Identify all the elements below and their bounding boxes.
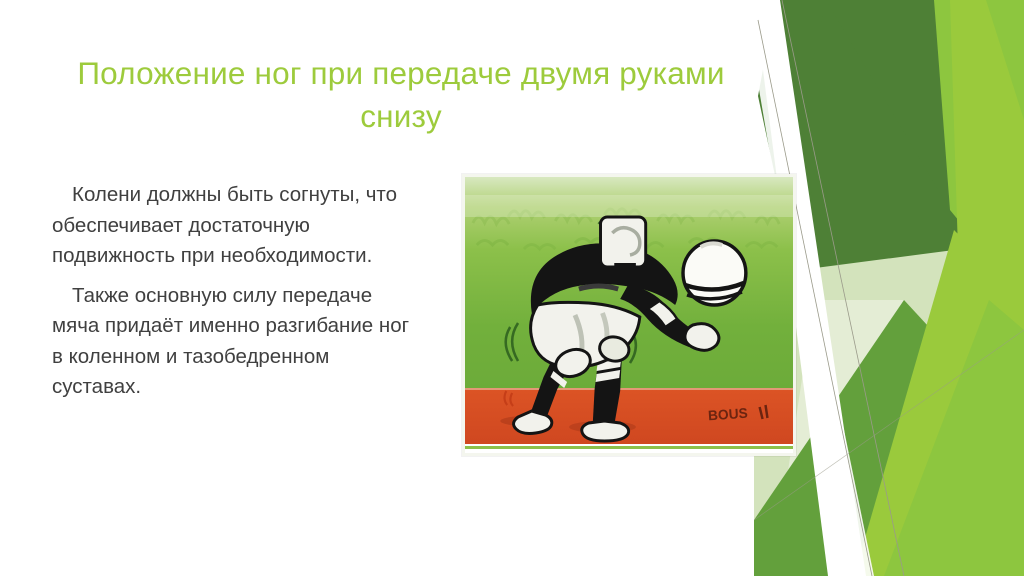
body-paragraph-1: Колени должны быть согнуты, что обеспечи… bbox=[52, 180, 422, 272]
facet-shape-bright-green-top bbox=[934, 0, 1024, 300]
player-neck bbox=[614, 263, 636, 275]
grass-highlight bbox=[465, 195, 793, 217]
body-text-block: Колени должны быть согнуты, что обеспечи… bbox=[52, 180, 422, 412]
volleyball-underhand-pass-illustration: BOUS bbox=[462, 174, 796, 456]
facet-shape-lime-corner bbox=[884, 300, 1024, 576]
body-paragraph-2: Также основную силу передаче мяча придаё… bbox=[52, 281, 422, 403]
court-line bbox=[465, 388, 793, 390]
facet-shape-lime-column bbox=[950, 0, 1024, 420]
player-front-shoe bbox=[582, 421, 629, 441]
facet-shape-center-diamond bbox=[794, 0, 950, 420]
volleyball bbox=[683, 241, 746, 305]
court-bottom-green-stripe bbox=[465, 446, 793, 449]
slide-canvas: Положение ног при передаче двумя руками … bbox=[0, 0, 1024, 576]
player-hands bbox=[685, 324, 719, 351]
facet-shape-bright-green-bottom bbox=[854, 230, 1024, 576]
illustration-signature: BOUS bbox=[707, 405, 748, 424]
illustration-canvas: BOUS bbox=[465, 177, 793, 453]
slide-title: Положение ног при передаче двумя руками … bbox=[56, 52, 746, 138]
facet-hairline-2 bbox=[782, 0, 904, 576]
facet-shape-dark-green bbox=[758, 0, 1024, 576]
